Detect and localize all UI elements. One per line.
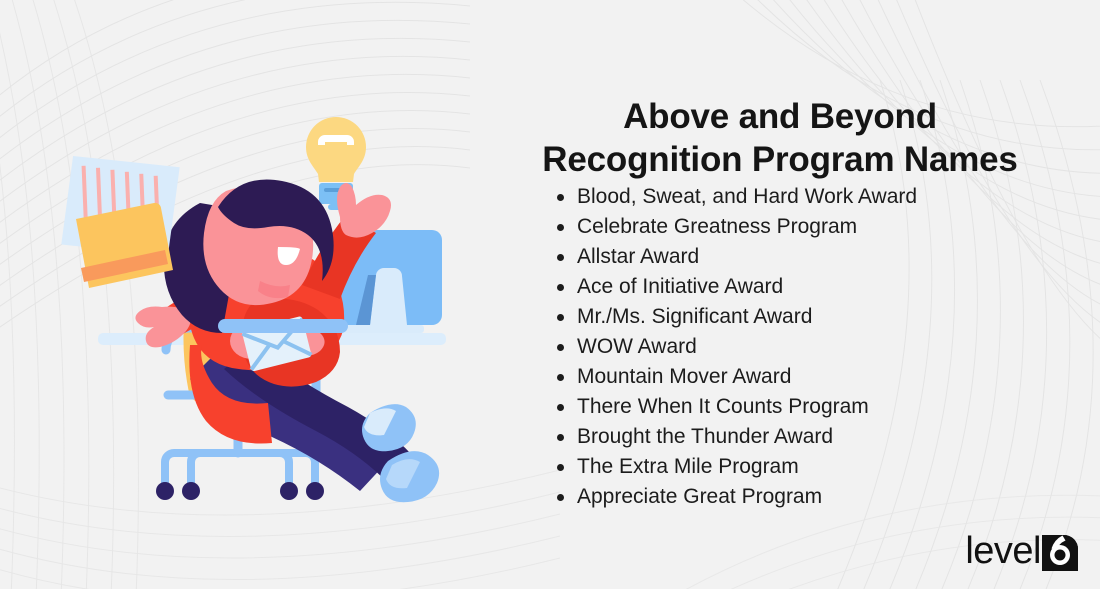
list-item-label: Brought the Thunder Award [577, 425, 833, 448]
list-item-label: The Extra Mile Program [577, 455, 799, 478]
list-item: Blood, Sweat, and Hard Work Award [555, 182, 917, 212]
list-item-label: WOW Award [577, 335, 697, 358]
bullet-icon [557, 374, 564, 381]
list-item-label: Appreciate Great Program [577, 485, 822, 508]
list-item: WOW Award [555, 332, 917, 362]
lightbulb-icon [306, 117, 366, 210]
list-item: Brought the Thunder Award [555, 422, 917, 452]
bullet-icon [557, 464, 564, 471]
list-item-label: Mr./Ms. Significant Award [577, 305, 812, 328]
bullet-icon [557, 434, 564, 441]
bullet-icon [557, 254, 564, 261]
bullet-icon [557, 344, 564, 351]
bullet-icon [557, 284, 564, 291]
list-item-label: There When It Counts Program [577, 395, 869, 418]
list-item: Ace of Initiative Award [555, 272, 917, 302]
list-item: Mr./Ms. Significant Award [555, 302, 917, 332]
page-title-line-2: Recognition Program Names [480, 138, 1080, 181]
list-item: Appreciate Great Program [555, 482, 917, 512]
list-item: There When It Counts Program [555, 392, 917, 422]
bullet-icon [557, 404, 564, 411]
bullet-icon [557, 194, 564, 201]
text-content-column: Above and Beyond Recognition Program Nam… [480, 0, 1100, 589]
bullet-icon [557, 494, 564, 501]
list-item: Allstar Award [555, 242, 917, 272]
keyboard [218, 319, 348, 333]
list-item-label: Celebrate Greatness Program [577, 215, 857, 238]
logo-mark-six-icon [1038, 531, 1078, 571]
list-item-label: Allstar Award [577, 245, 699, 268]
page-title-line-1: Above and Beyond [480, 95, 1080, 138]
award-name-list: Blood, Sweat, and Hard Work Award Celebr… [555, 182, 917, 512]
brand-logo: level [965, 531, 1078, 571]
logo-wordmark: level [965, 532, 1041, 570]
bullet-icon [557, 224, 564, 231]
infographic-canvas: Above and Beyond Recognition Program Nam… [0, 0, 1100, 589]
page-title: Above and Beyond Recognition Program Nam… [480, 95, 1080, 181]
list-item-label: Mountain Mover Award [577, 365, 791, 388]
list-item-label: Ace of Initiative Award [577, 275, 783, 298]
folder-with-document [49, 141, 191, 288]
illustration-multitasking-woman [40, 95, 490, 515]
bullet-icon [557, 314, 564, 321]
list-item: The Extra Mile Program [555, 452, 917, 482]
list-item: Celebrate Greatness Program [555, 212, 917, 242]
list-item-label: Blood, Sweat, and Hard Work Award [577, 185, 917, 208]
list-item: Mountain Mover Award [555, 362, 917, 392]
